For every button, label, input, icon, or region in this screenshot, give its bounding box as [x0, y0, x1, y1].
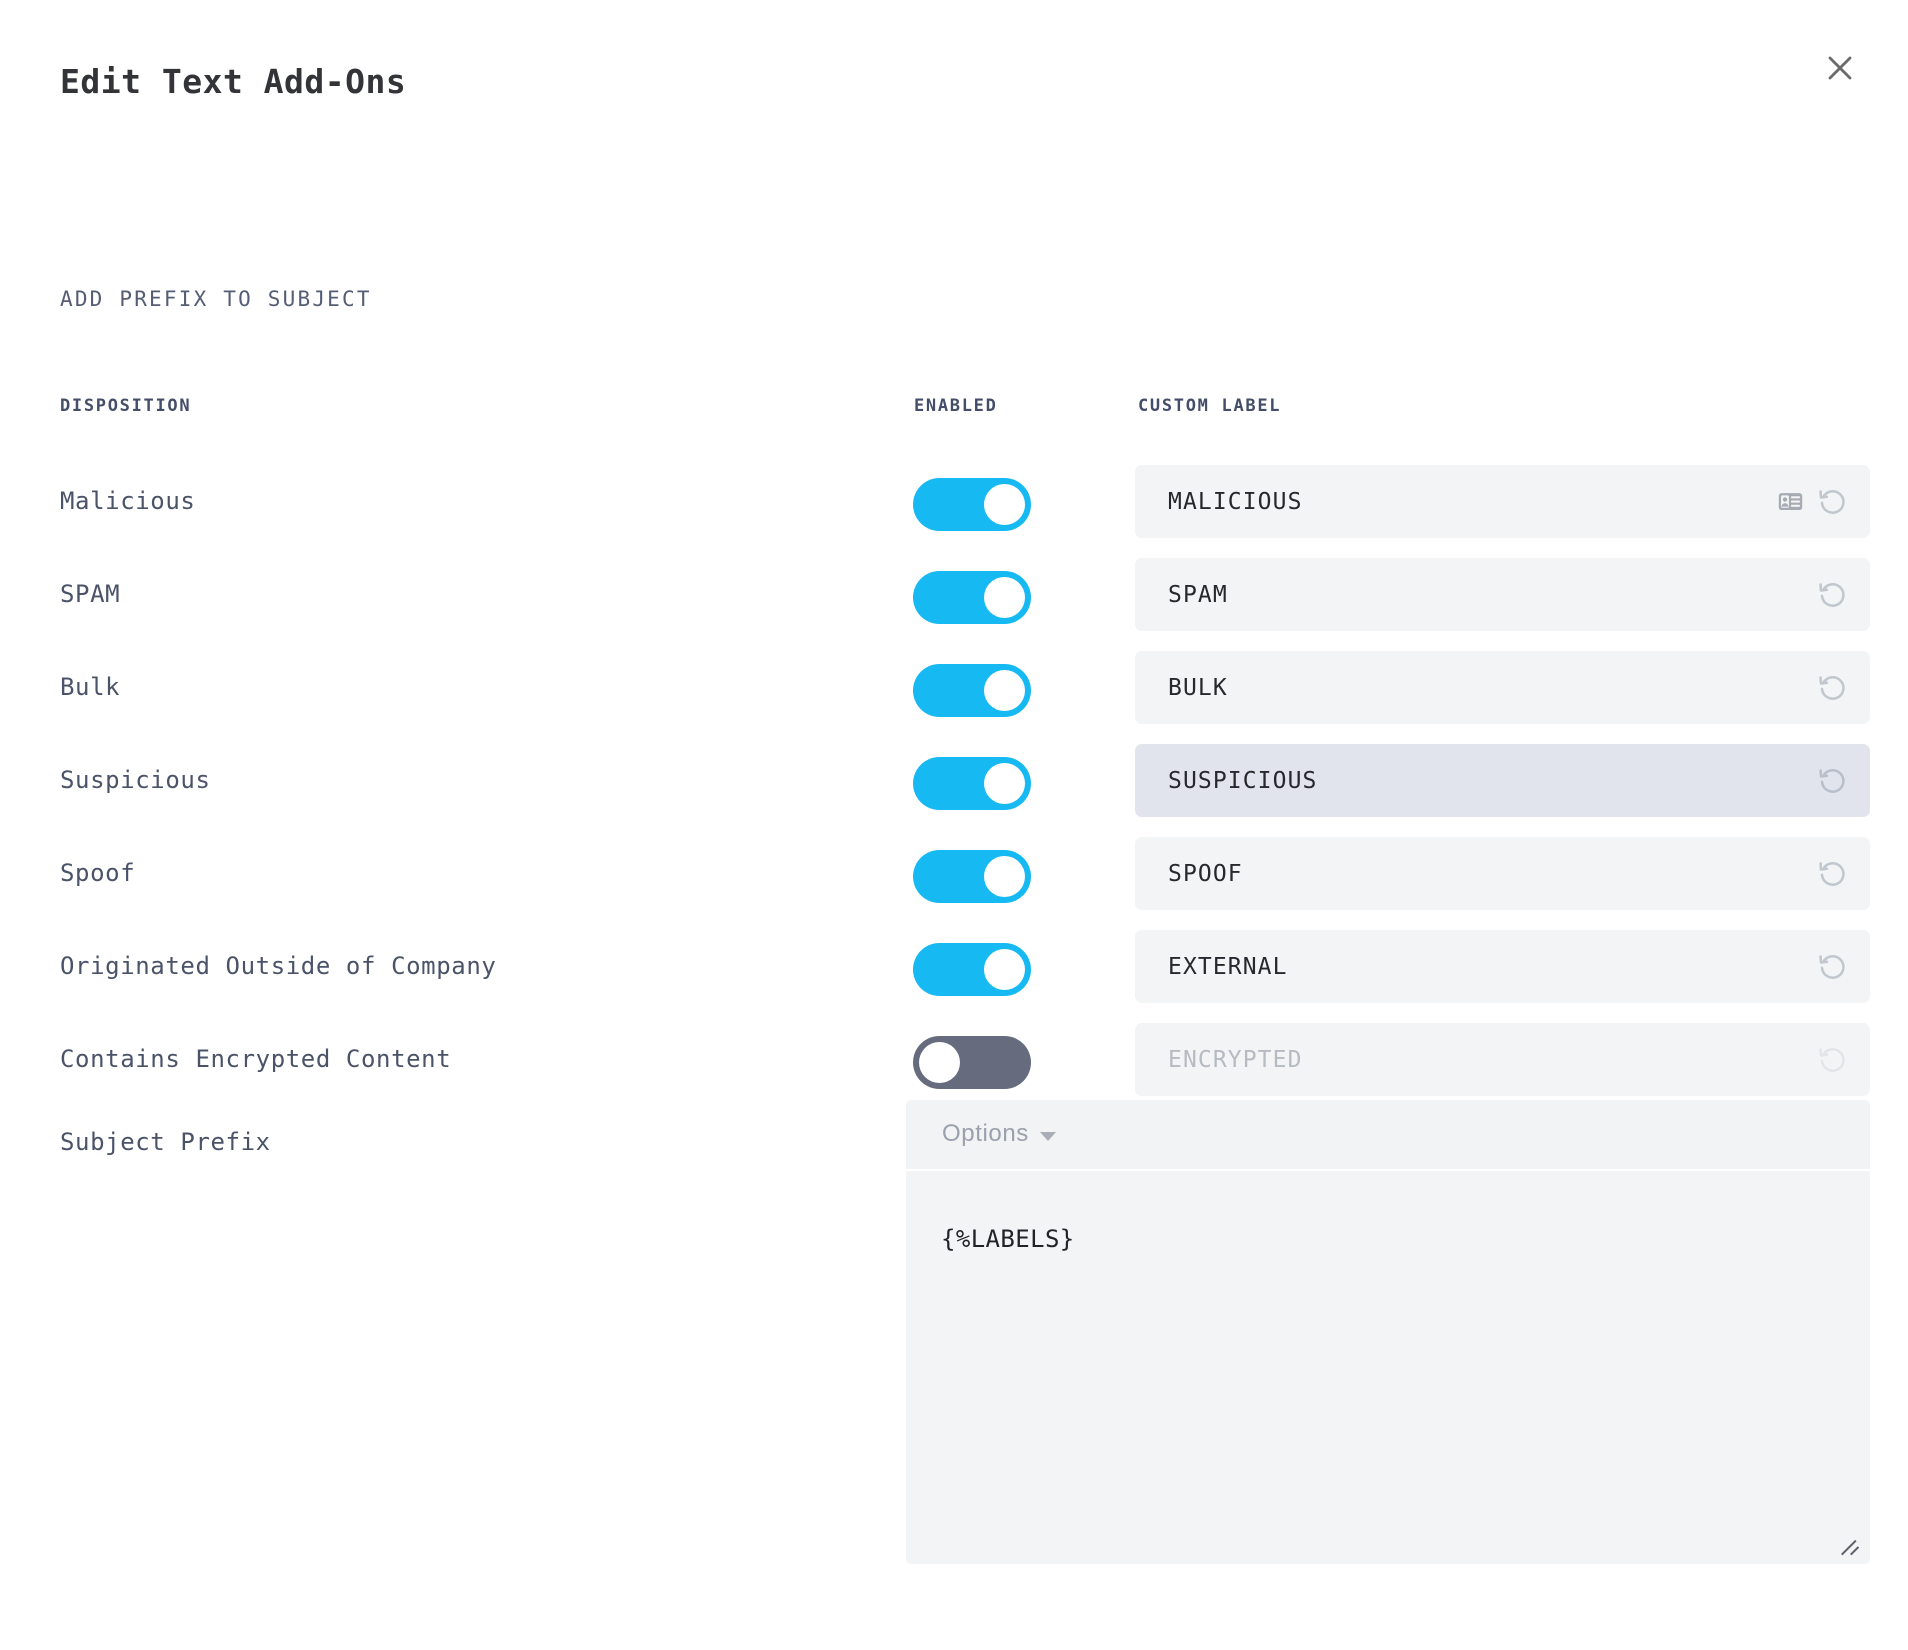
field-icon-group: [1817, 651, 1848, 724]
enabled-toggle-spam[interactable]: [913, 571, 1031, 624]
subject-prefix-value: {%LABELS}: [941, 1225, 1075, 1253]
custom-label-value: MALICIOUS: [1168, 489, 1303, 515]
field-icon-group: [1817, 837, 1848, 910]
section-title: ADD PREFIX TO SUBJECT: [60, 287, 372, 311]
field-icon-group: [1777, 465, 1848, 538]
subject-prefix-textarea[interactable]: {%LABELS}: [906, 1171, 1870, 1564]
options-dropdown[interactable]: Options: [942, 1120, 1056, 1148]
disposition-label: Contains Encrypted Content: [60, 1045, 451, 1073]
reset-icon[interactable]: [1817, 765, 1848, 796]
table-row: Originated Outside of Company EXTERNAL: [0, 920, 1908, 1013]
custom-label-input-encrypted[interactable]: ENCRYPTED: [1135, 1023, 1870, 1096]
disposition-label: Bulk: [60, 673, 120, 701]
reset-icon[interactable]: [1817, 1044, 1848, 1075]
page-title: Edit Text Add-Ons: [60, 62, 406, 101]
table-row: SPAM SPAM: [0, 548, 1908, 641]
table-row: Spoof SPOOF: [0, 827, 1908, 920]
options-label: Options: [942, 1120, 1029, 1148]
toggle-knob: [984, 577, 1025, 618]
edit-text-addons-dialog: Edit Text Add-Ons ADD PREFIX TO SUBJECT …: [0, 0, 1908, 1650]
custom-label-value: SPAM: [1168, 582, 1228, 608]
reset-icon[interactable]: [1817, 858, 1848, 889]
toggle-knob: [919, 1042, 960, 1083]
disposition-rows: Malicious MALICIOUS: [0, 455, 1908, 1106]
toggle-knob: [984, 856, 1025, 897]
column-header-custom-label: CUSTOM LABEL: [1138, 396, 1281, 416]
custom-label-value: SPOOF: [1168, 861, 1243, 887]
column-header-enabled: ENABLED: [914, 396, 998, 416]
dialog-header: Edit Text Add-Ons: [0, 0, 1908, 150]
custom-label-value: ENCRYPTED: [1168, 1047, 1303, 1073]
custom-label-input-bulk[interactable]: BULK: [1135, 651, 1870, 724]
chevron-down-icon: [1040, 1132, 1056, 1141]
toggle-knob: [984, 763, 1025, 804]
disposition-label: Originated Outside of Company: [60, 952, 496, 980]
resize-handle-icon[interactable]: [1838, 1533, 1864, 1559]
table-row: Bulk BULK: [0, 641, 1908, 734]
disposition-label: Malicious: [60, 487, 195, 515]
field-icon-group: [1817, 930, 1848, 1003]
enabled-toggle-malicious[interactable]: [913, 478, 1031, 531]
custom-label-input-suspicious[interactable]: SUSPICIOUS: [1135, 744, 1870, 817]
field-icon-group: [1817, 744, 1848, 817]
custom-label-value: BULK: [1168, 675, 1228, 701]
custom-label-input-spoof[interactable]: SPOOF: [1135, 837, 1870, 910]
table-row: Malicious MALICIOUS: [0, 455, 1908, 548]
disposition-label: Suspicious: [60, 766, 211, 794]
field-icon-group: [1817, 558, 1848, 631]
reset-icon[interactable]: [1817, 486, 1848, 517]
custom-label-input-malicious[interactable]: MALICIOUS: [1135, 465, 1870, 538]
enabled-toggle-bulk[interactable]: [913, 664, 1031, 717]
custom-label-input-spam[interactable]: SPAM: [1135, 558, 1870, 631]
reset-icon[interactable]: [1817, 951, 1848, 982]
column-header-disposition: DISPOSITION: [60, 396, 191, 416]
disposition-label: Spoof: [60, 859, 135, 887]
table-row: Contains Encrypted Content ENCRYPTED: [0, 1013, 1908, 1106]
editor-toolbar: Options: [906, 1100, 1870, 1171]
reset-icon[interactable]: [1817, 579, 1848, 610]
custom-label-value: EXTERNAL: [1168, 954, 1288, 980]
enabled-toggle-external[interactable]: [913, 943, 1031, 996]
contact-card-icon[interactable]: [1777, 488, 1804, 515]
reset-icon[interactable]: [1817, 672, 1848, 703]
custom-label-input-external[interactable]: EXTERNAL: [1135, 930, 1870, 1003]
subject-prefix-label: Subject Prefix: [60, 1128, 271, 1156]
table-row: Suspicious SUSPICIOUS: [0, 734, 1908, 827]
enabled-toggle-spoof[interactable]: [913, 850, 1031, 903]
disposition-label: SPAM: [60, 580, 120, 608]
subject-prefix-editor: Options {%LABELS}: [906, 1100, 1870, 1564]
toggle-knob: [984, 670, 1025, 711]
field-icon-group: [1817, 1023, 1848, 1096]
enabled-toggle-suspicious[interactable]: [913, 757, 1031, 810]
close-button[interactable]: [1812, 40, 1868, 96]
toggle-knob: [984, 949, 1025, 990]
enabled-toggle-encrypted[interactable]: [913, 1036, 1031, 1089]
toggle-knob: [984, 484, 1025, 525]
custom-label-value: SUSPICIOUS: [1168, 768, 1317, 794]
close-icon: [1824, 52, 1856, 84]
